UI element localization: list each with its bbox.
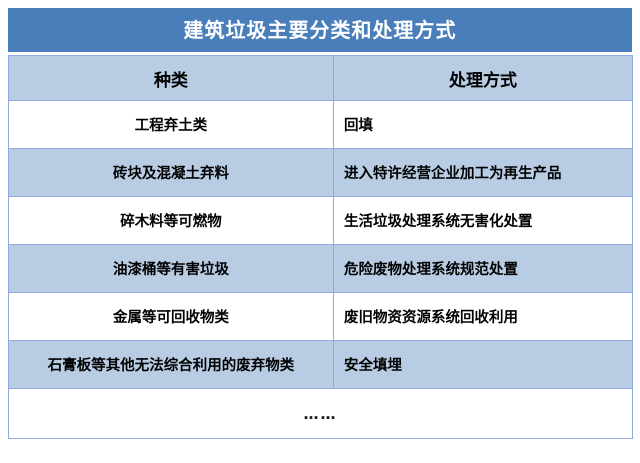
column-header-kind: 种类: [9, 56, 334, 101]
table-row: 金属等可回收物类 废旧物资资源系统回收利用: [9, 293, 633, 341]
waste-classification-table: 建筑垃圾主要分类和处理方式 种类 处理方式 工程弃土类 回填 砖块及混凝: [8, 8, 632, 439]
cell-method: 危险废物处理系统规范处置: [334, 245, 633, 293]
table-row: 碎木料等可燃物 生活垃圾处理系统无害化处置: [9, 197, 633, 245]
cell-kind: 油漆桶等有害垃圾: [9, 245, 334, 293]
cell-method: 进入特许经营企业加工为再生产品: [334, 149, 633, 197]
page-title: 建筑垃圾主要分类和处理方式: [184, 20, 457, 40]
column-header-method: 处理方式: [334, 56, 633, 101]
cell-kind: 石膏板等其他无法综合利用的废弃物类: [9, 341, 334, 389]
table-page: 建筑垃圾主要分类和处理方式 种类 处理方式 工程弃土类 回填 砖块及混凝: [0, 0, 640, 463]
table-row: 工程弃土类 回填: [9, 101, 633, 149]
cell-kind: 工程弃土类: [9, 101, 334, 149]
cell-kind: 砖块及混凝土弃料: [9, 149, 334, 197]
table-row: 油漆桶等有害垃圾 危险废物处理系统规范处置: [9, 245, 633, 293]
cell-method: 回填: [334, 101, 633, 149]
cell-method: 安全填埋: [334, 341, 633, 389]
cell-kind: 碎木料等可燃物: [9, 197, 334, 245]
table-row: 石膏板等其他无法综合利用的废弃物类 安全填埋: [9, 341, 633, 389]
cell-method: 废旧物资资源系统回收利用: [334, 293, 633, 341]
table-title-bar: 建筑垃圾主要分类和处理方式: [8, 8, 632, 52]
cell-kind: 金属等可回收物类: [9, 293, 334, 341]
cell-method: 生活垃圾处理系统无害化处置: [334, 197, 633, 245]
ellipsis-cell: ……: [9, 389, 633, 439]
table-row: 砖块及混凝土弃料 进入特许经营企业加工为再生产品: [9, 149, 633, 197]
table-header-row: 种类 处理方式: [9, 56, 633, 101]
table-footer-row: ……: [9, 389, 633, 439]
data-table: 种类 处理方式 工程弃土类 回填 砖块及混凝土弃料 进入特许经营企业加工为再生产…: [8, 55, 633, 439]
